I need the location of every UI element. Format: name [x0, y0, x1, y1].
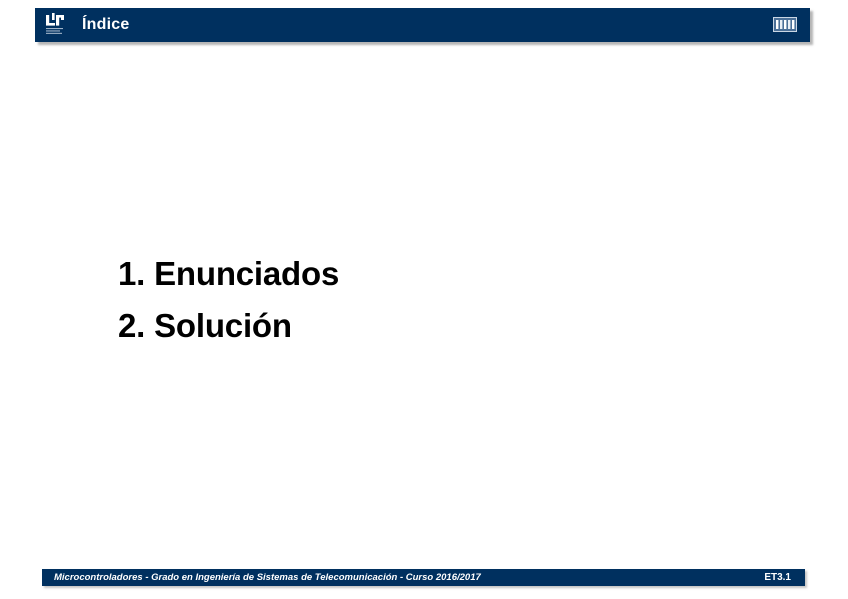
institution-mark-icon — [773, 17, 797, 32]
slide-canvas: Índice 1. Enunciados 2. Solución Microco… — [0, 0, 848, 599]
footer-slide-code: ET3.1 — [764, 569, 791, 586]
slide-header-bar: Índice — [35, 8, 810, 42]
university-logo-icon — [44, 12, 70, 37]
slide-footer-bar: Microcontroladores - Grado en Ingeniería… — [42, 569, 805, 586]
agenda-item-2: 2. Solución — [118, 300, 738, 352]
footer-course-label: Microcontroladores - Grado en Ingeniería… — [54, 569, 481, 586]
agenda-list: 1. Enunciados 2. Solución — [118, 248, 738, 352]
agenda-item-1: 1. Enunciados — [118, 248, 738, 300]
page-title: Índice — [82, 8, 129, 42]
